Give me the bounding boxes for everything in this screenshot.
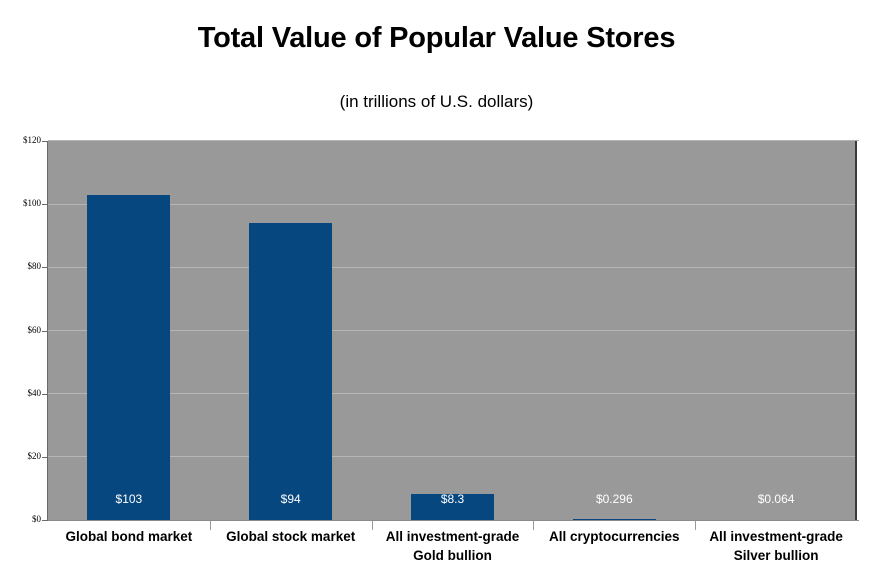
chart-title: Total Value of Popular Value Stores — [0, 22, 873, 55]
y-tick-label: $20 — [8, 451, 41, 461]
x-category-label-line: All cryptocurrencies — [533, 527, 695, 546]
x-category-label-line: All investment-grade — [372, 527, 534, 546]
x-axis-line — [48, 520, 859, 521]
x-category-label-line: Global stock market — [210, 527, 372, 546]
bar — [249, 223, 332, 520]
y-tick-label: $0 — [8, 514, 41, 524]
y-tick-mark — [42, 204, 48, 205]
x-category-label-line: Global bond market — [48, 527, 210, 546]
bar-value-label: $0.296 — [544, 492, 684, 506]
plot-area: $103$94$8.3$0.296$0.064 — [48, 141, 857, 520]
x-category-label-line: Gold bullion — [372, 546, 534, 565]
bar — [87, 195, 170, 520]
bar-value-label: $103 — [59, 492, 199, 506]
y-tick-label: $120 — [8, 135, 41, 145]
x-category-label-line: All investment-grade — [695, 527, 857, 546]
x-category-label: Global bond market — [48, 527, 210, 546]
y-tick-mark — [42, 520, 48, 521]
x-category-label: All investment-gradeSilver bullion — [695, 527, 857, 565]
bar-value-label: $8.3 — [383, 492, 523, 506]
y-tick-mark — [42, 141, 48, 142]
y-tick-mark — [42, 267, 48, 268]
y-tick-mark — [42, 457, 48, 458]
bar-value-label: $0.064 — [706, 492, 846, 506]
y-tick-mark — [42, 394, 48, 395]
y-tick-mark — [42, 331, 48, 332]
y-tick-label: $100 — [8, 198, 41, 208]
x-category-label: All investment-gradeGold bullion — [372, 527, 534, 565]
y-tick-label: $60 — [8, 325, 41, 335]
y-tick-label: $40 — [8, 388, 41, 398]
x-category-label: All cryptocurrencies — [533, 527, 695, 546]
chart-subtitle: (in trillions of U.S. dollars) — [0, 92, 873, 112]
bar-value-label: $94 — [221, 492, 361, 506]
x-category-label-line: Silver bullion — [695, 546, 857, 565]
bar-chart: Total Value of Popular Value Stores (in … — [0, 0, 873, 573]
x-category-label: Global stock market — [210, 527, 372, 546]
y-tick-label: $80 — [8, 261, 41, 271]
